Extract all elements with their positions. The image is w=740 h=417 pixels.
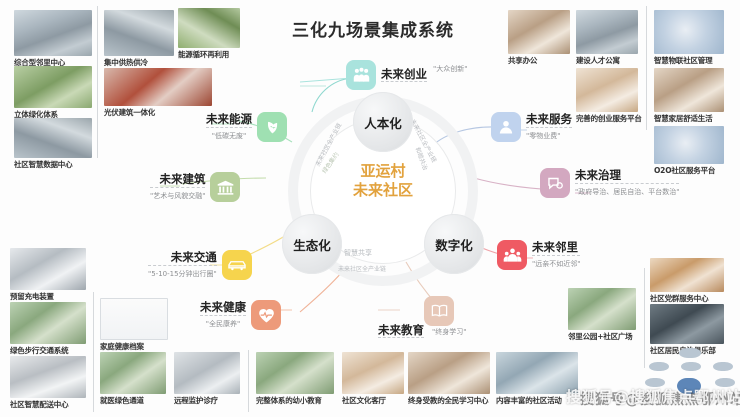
photo-caption: 能源循环再利用 — [178, 49, 240, 60]
photo-card: 终身受教的全民学习中心 — [408, 352, 490, 394]
scene-label-education: 未来教育 "终身学习" — [378, 324, 466, 338]
photo-thumb — [650, 304, 724, 344]
photo-card: 绿色步行交通系统 — [10, 302, 86, 344]
photo-thumb — [10, 356, 86, 398]
photo-caption: 就医绿色通道 — [100, 395, 166, 406]
photo-thumb — [100, 352, 166, 394]
scene-name: 未来创业 — [381, 68, 427, 80]
photo-thumb — [100, 298, 168, 340]
infographic-canvas: 三化九场景集成系统 综合型邻里中心 — [0, 0, 740, 417]
photo-thumb — [10, 302, 86, 344]
photo-caption: 终身受教的全民学习中心 — [408, 395, 490, 406]
scene-subtitle: "大众创新" — [433, 64, 467, 74]
scene-subtitle: "低碳无废" — [206, 131, 252, 141]
photo-card: 建设人才公寓 — [576, 10, 638, 54]
scene-node-transport[interactable]: 未来交通 "5-10-15分钟出行圈" — [148, 250, 252, 280]
scene-name: 未来治理 — [575, 169, 679, 181]
photo-card: O2O社区服务平台 — [654, 126, 724, 164]
photo-caption: 集中供热供冷 — [104, 57, 174, 68]
scene-rule — [148, 265, 217, 266]
photo-card: 智慧物联社区管理 — [654, 10, 724, 54]
divider-vertical — [646, 6, 647, 130]
arc-word: 未来社区全产业链 — [338, 264, 386, 273]
photo-card: 邻里公园+社区广场 — [568, 288, 636, 330]
photo-card: 社区党群服务中心 — [650, 258, 724, 292]
photo-caption: 共享办公 — [508, 55, 570, 66]
scene-rule — [200, 315, 246, 316]
scene-rule — [378, 337, 424, 338]
arc-word: 智慧共享 — [344, 248, 372, 258]
heart-pulse-icon — [251, 300, 281, 330]
photo-caption: 完整体系的幼小教育 — [256, 395, 334, 406]
photo-caption: 建设人才公寓 — [576, 55, 638, 66]
photo-card: 社区居民自治俱乐部 — [650, 304, 724, 344]
scene-subtitle: "艺术与风貌交融" — [150, 191, 205, 201]
photo-card: 立体绿化体系 — [14, 66, 92, 108]
classic-building-icon — [210, 172, 240, 202]
scene-node-energy[interactable]: 未来能源 "低碳无废" — [206, 112, 287, 142]
divider-vertical — [248, 350, 249, 412]
scene-subtitle: "全民康养" — [200, 319, 246, 329]
photo-caption: 完善的创业服务平台 — [576, 113, 638, 124]
photo-thumb — [174, 352, 240, 394]
photo-thumb — [104, 68, 212, 106]
photo-caption: 光伏建筑一体化 — [104, 107, 212, 118]
photo-card: 共享办公 — [508, 10, 570, 54]
core-ring: 未来社区全产业链 和睦共治 未来社区全产业链 绿色集约 智慧共享 未来社区全产业… — [288, 96, 478, 286]
photo-card: 就医绿色通道 — [100, 352, 166, 394]
scene-name: 未来建筑 — [150, 173, 205, 185]
photo-thumb — [654, 10, 724, 54]
photo-card: 光伏建筑一体化 — [104, 68, 212, 106]
lobe-people-centric[interactable]: 人本化 — [353, 92, 413, 152]
lobe-ecological[interactable]: 生态化 — [282, 214, 342, 274]
photo-caption: 家庭健康档案 — [100, 341, 166, 352]
scene-name: 未来能源 — [206, 113, 252, 125]
photo-thumb — [342, 352, 404, 394]
photo-caption: 社区智慧数据中心 — [14, 159, 92, 170]
photo-card: 社区智慧配送中心 — [10, 356, 86, 398]
photo-card: 集中供热供冷 — [104, 10, 174, 56]
photo-caption: 智慧家居舒适生活 — [654, 113, 724, 124]
photo-card: 智慧家居舒适生活 — [654, 68, 724, 112]
photo-thumb — [654, 68, 724, 112]
scene-subtitle: "政府导治、居民自治、平台数治" — [575, 187, 679, 197]
photo-thumb — [654, 126, 724, 164]
scene-name: 未来健康 — [200, 301, 246, 313]
photo-caption: 社区党群服务中心 — [650, 293, 724, 304]
photo-thumb — [408, 352, 490, 394]
photo-card: 家庭健康档案 — [100, 298, 166, 338]
scene-node-neighborhood[interactable]: 未来邻里 "远亲不如近邻" — [497, 240, 580, 270]
photo-thumb — [178, 8, 240, 48]
photo-thumb — [650, 258, 724, 292]
photo-caption: 社区文化客厅 — [342, 395, 404, 406]
photo-card: 完整体系的幼小教育 — [256, 352, 334, 394]
photo-thumb — [256, 352, 334, 394]
scene-subtitle: "远亲不如近邻" — [532, 259, 580, 269]
watermark: 搜狐号@搜狐焦点鄂州站 — [566, 386, 740, 407]
leaf-icon — [257, 112, 287, 142]
scene-node-entrepreneurship[interactable]: 未来创业 "大众创新" — [346, 60, 467, 90]
scene-subtitle: "5-10-15分钟出行圈" — [148, 269, 217, 279]
photo-card: 能源循环再利用 — [178, 8, 240, 48]
photo-caption: 远程监护诊疗 — [174, 395, 240, 406]
photo-caption: 绿色步行交通系统 — [10, 345, 86, 356]
photo-thumb — [508, 10, 570, 54]
core-brand: 亚运村 未来社区 — [323, 162, 443, 200]
photo-thumb — [568, 288, 636, 330]
scene-node-building[interactable]: 未来建筑 "艺术与风貌交融" — [150, 172, 240, 202]
photo-thumb — [14, 66, 92, 108]
photo-card: 完善的创业服务平台 — [576, 68, 638, 112]
scene-node-governance[interactable]: 未来治理 "政府导治、居民自治、平台数治" — [540, 168, 679, 198]
scene-name: 未来服务 — [526, 113, 572, 125]
scene-rule — [150, 187, 205, 188]
scene-name: 未来交通 — [148, 251, 217, 263]
speech-gear-icon — [540, 168, 570, 198]
scene-name: 未来教育 — [378, 324, 424, 336]
lobe-label: 数字化 — [435, 235, 473, 254]
concierge-person-icon — [491, 112, 521, 142]
family-icon — [497, 240, 527, 270]
scene-rule — [206, 127, 252, 128]
scene-name: 未来邻里 — [532, 241, 580, 253]
scene-node-education[interactable] — [424, 296, 454, 326]
people-group-icon — [346, 60, 376, 90]
photo-card: 综合型邻里中心 — [14, 10, 92, 56]
scene-subtitle: "终身学习" — [432, 327, 466, 337]
lobe-label: 人本化 — [364, 113, 402, 132]
photo-thumb — [14, 118, 92, 158]
car-icon — [222, 250, 252, 280]
photo-thumb — [104, 10, 174, 56]
page-title: 三化九场景集成系统 — [258, 16, 488, 41]
photo-thumb — [14, 10, 92, 56]
divider-vertical — [97, 6, 98, 158]
scene-rule — [532, 255, 580, 256]
photo-thumb — [576, 68, 638, 112]
photo-card: 社区文化客厅 — [342, 352, 404, 394]
core-brand-line2: 未来社区 — [323, 181, 443, 200]
divider-vertical — [93, 292, 94, 412]
photo-caption: 邻里公园+社区广场 — [568, 331, 636, 342]
scene-rule — [381, 81, 427, 82]
photo-card: 远程监护诊疗 — [174, 352, 240, 394]
photo-caption: 社区智慧配送中心 — [10, 399, 86, 410]
scene-node-service[interactable]: 未来服务 "零物业费" — [491, 112, 572, 142]
core-brand-line1: 亚运村 — [323, 162, 443, 181]
photo-thumb — [576, 10, 638, 54]
lobe-digital[interactable]: 数字化 — [424, 214, 484, 274]
photo-card: 社区智慧数据中心 — [14, 118, 92, 158]
scene-subtitle: "零物业费" — [526, 131, 572, 141]
scene-node-health[interactable]: 未来健康 "全民康养" — [200, 300, 281, 330]
open-book-icon — [424, 296, 454, 326]
scene-rule — [575, 183, 679, 184]
scene-rule — [526, 127, 572, 128]
photo-caption: 预留充电装置 — [10, 291, 86, 302]
lobe-label: 生态化 — [293, 235, 331, 254]
photo-thumb — [10, 248, 86, 290]
photo-card: 预留充电装置 — [10, 248, 86, 290]
photo-caption: 智慧物联社区管理 — [654, 55, 724, 66]
